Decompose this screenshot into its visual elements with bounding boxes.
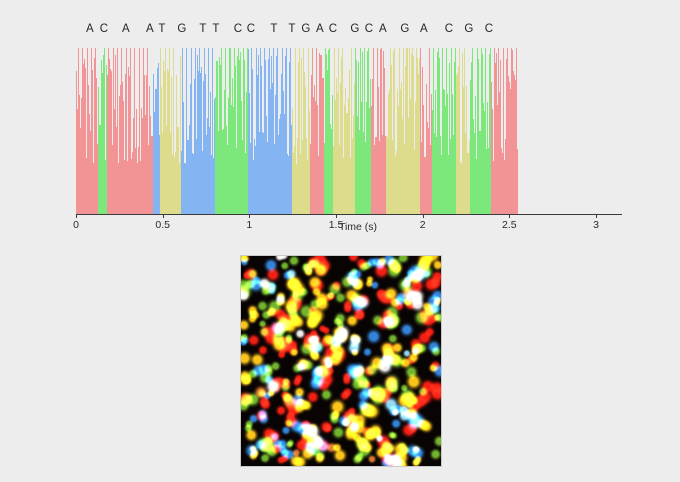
- basecall-letter: C: [445, 22, 454, 36]
- trace-bar: [288, 48, 289, 156]
- basecall-letter: T: [288, 22, 295, 36]
- trace-bar: [228, 48, 229, 98]
- x-axis-tick: [423, 214, 424, 218]
- x-axis-tick: [596, 214, 597, 218]
- trace-bar: [361, 48, 362, 102]
- basecall-letter: C: [234, 22, 243, 36]
- trace-bar: [242, 48, 243, 140]
- basecall-letter: T: [158, 22, 165, 36]
- basecall-letter: A: [122, 22, 130, 36]
- basecall-letter-row: ACAATGTTCCTTGACGCAGACGC: [0, 22, 680, 40]
- fluorescence-micrograph-image: [241, 256, 441, 466]
- trace-bar: [493, 48, 494, 161]
- x-axis-tick-label: 3: [593, 219, 599, 231]
- trace-bar: [196, 48, 197, 139]
- trace-bar: [284, 48, 285, 114]
- trace-bar: [318, 48, 319, 156]
- x-axis-line: [76, 214, 622, 215]
- basecall-letter: G: [350, 22, 359, 36]
- x-axis-tick-label: 0.5: [155, 219, 170, 231]
- photon-trace-bar-layer: [76, 48, 622, 214]
- basecall-letter: A: [316, 22, 324, 36]
- trace-bar: [476, 48, 477, 159]
- trace-bar: [392, 48, 393, 140]
- sequencing-trace-plot: [76, 48, 622, 214]
- trace-bar: [410, 48, 411, 99]
- trace-bar: [236, 48, 237, 148]
- trace-bar: [510, 48, 511, 89]
- x-axis-tick-label: 2: [420, 219, 426, 231]
- x-axis-tick-label: 1: [246, 219, 252, 231]
- trace-bar: [408, 48, 409, 118]
- trace-bar: [263, 48, 264, 133]
- x-axis-tick-label: 0: [73, 219, 79, 231]
- basecall-letter: A: [146, 22, 154, 36]
- trace-bar: [218, 48, 219, 131]
- x-axis-tick-label: 2.5: [502, 219, 517, 231]
- trace-bar: [366, 48, 367, 102]
- fluorescence-micrograph-panel: [241, 256, 441, 466]
- trace-bar: [162, 48, 163, 133]
- trace-bar: [300, 48, 301, 154]
- basecall-letter: T: [212, 22, 219, 36]
- trace-bar: [114, 48, 115, 109]
- trace-bar: [179, 48, 180, 163]
- trace-bar: [324, 48, 325, 143]
- trace-bar: [405, 48, 406, 66]
- basecall-letter: C: [100, 22, 109, 36]
- basecall-letter: A: [86, 22, 94, 36]
- x-axis-tick: [249, 214, 250, 218]
- trace-bar: [327, 48, 328, 70]
- basecall-letter: G: [177, 22, 186, 36]
- trace-bar: [267, 48, 268, 142]
- basecall-letter: C: [329, 22, 338, 36]
- basecall-letter: C: [485, 22, 494, 36]
- basecall-letter: C: [365, 22, 374, 36]
- basecall-letter: A: [379, 22, 387, 36]
- x-axis-tick: [76, 214, 77, 218]
- basecall-letter: G: [400, 22, 409, 36]
- trace-bar: [246, 48, 247, 92]
- trace-bar: [517, 48, 518, 149]
- trace-bar: [461, 48, 462, 164]
- trace-bar: [436, 48, 437, 137]
- x-axis-title: Time (s): [339, 221, 377, 233]
- basecall-letter: G: [301, 22, 310, 36]
- trace-bar: [382, 48, 383, 134]
- basecall-letter: C: [247, 22, 256, 36]
- basecall-letter: G: [464, 22, 473, 36]
- basecall-letter: A: [420, 22, 428, 36]
- x-axis-tick: [509, 214, 510, 218]
- basecall-letter: T: [270, 22, 277, 36]
- basecall-letter: T: [199, 22, 206, 36]
- x-axis-tick: [336, 214, 337, 218]
- trace-bar: [448, 48, 449, 155]
- x-axis-tick: [163, 214, 164, 218]
- trace-bar: [379, 48, 380, 141]
- trace-bar: [505, 48, 506, 139]
- trace-bar: [480, 48, 481, 131]
- trace-bar: [93, 48, 94, 163]
- trace-bar: [488, 48, 489, 148]
